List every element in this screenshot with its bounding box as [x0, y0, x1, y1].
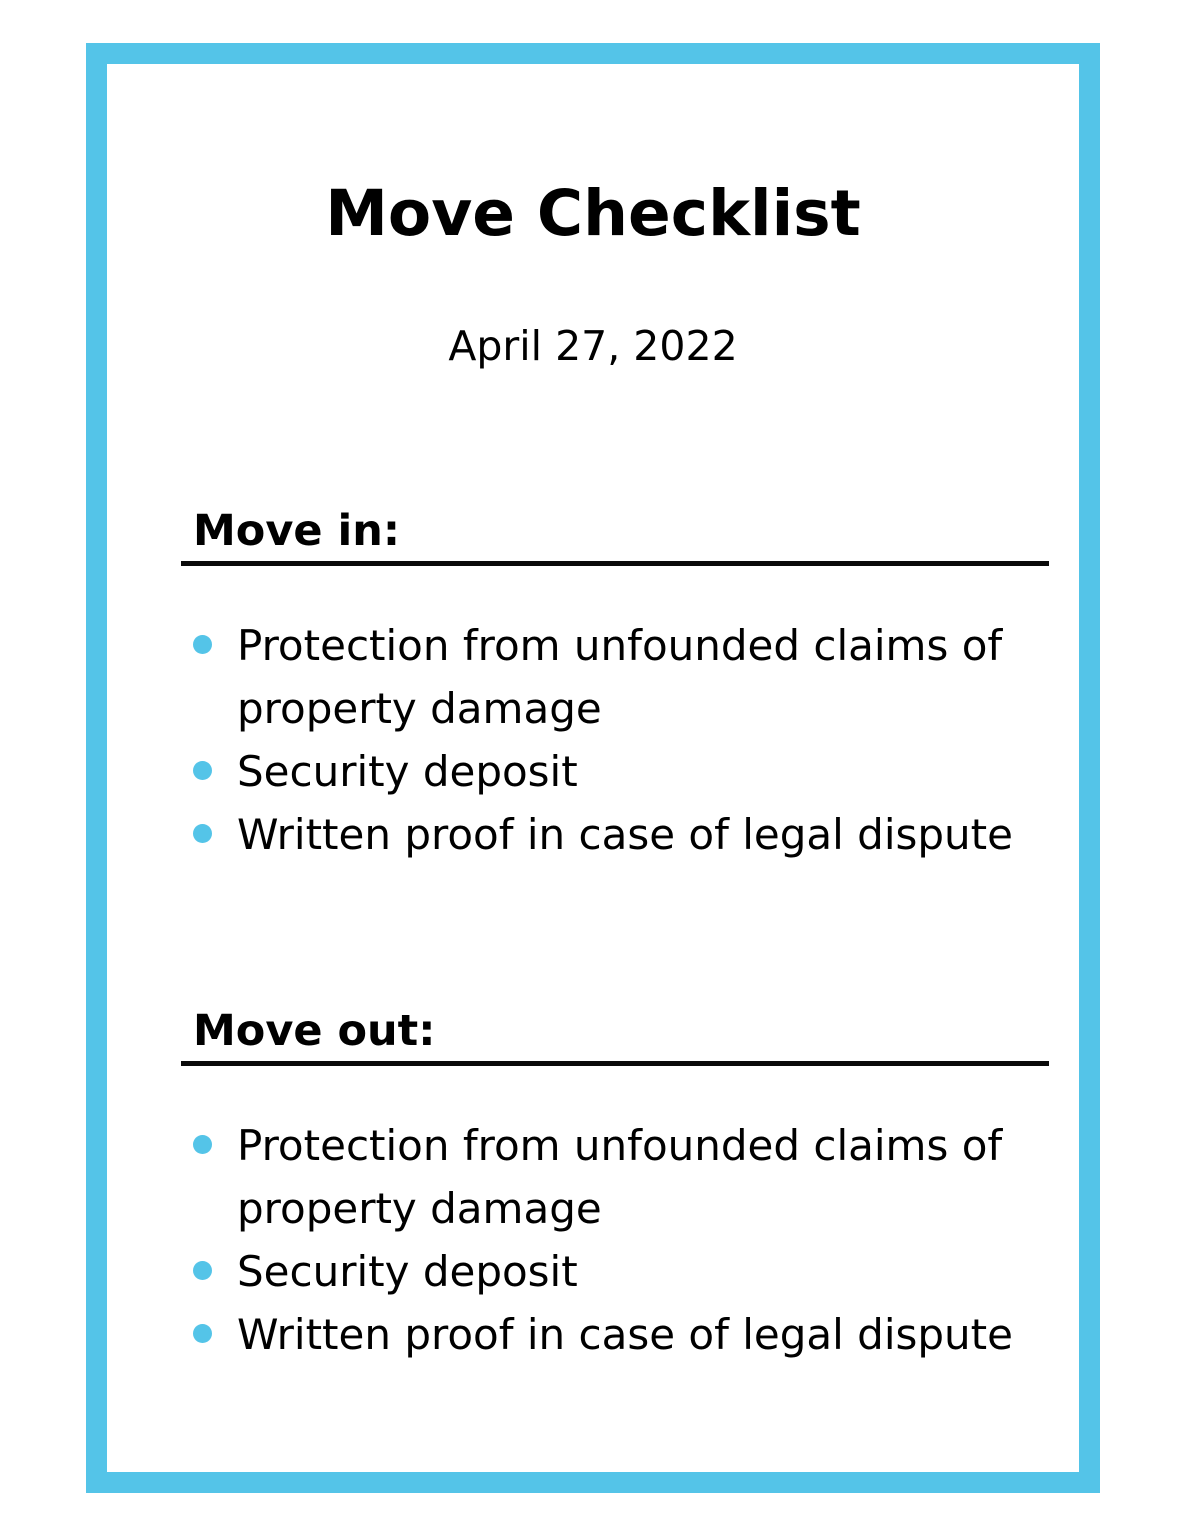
section-divider-move-in [181, 561, 1049, 566]
document-content: Move Checklist April 27, 2022 Move in: P… [107, 64, 1079, 1472]
list-item[interactable]: Security deposit [181, 740, 1049, 803]
bullet-dot-icon [193, 1135, 212, 1154]
list-item[interactable]: Written proof in case of legal dispute [181, 803, 1049, 866]
section-heading-move-in: Move in: [181, 507, 1049, 557]
list-item[interactable]: Written proof in case of legal dispute [181, 1303, 1049, 1366]
list-item[interactable]: Security deposit [181, 1240, 1049, 1303]
list-item-label: Security deposit [237, 1240, 1049, 1303]
decorative-blue-frame: Move Checklist April 27, 2022 Move in: P… [86, 43, 1100, 1493]
bullet-dot-icon [193, 824, 212, 843]
bullet-dot-icon [193, 1261, 212, 1280]
list-item-label: Protection from unfounded claims of prop… [237, 1114, 1049, 1240]
list-item-label: Security deposit [237, 740, 1049, 803]
bullet-dot-icon [193, 635, 212, 654]
page-title: Move Checklist [107, 182, 1079, 245]
section-divider-move-out [181, 1061, 1049, 1066]
list-item-label: Written proof in case of legal dispute [237, 1303, 1049, 1366]
document-date: April 27, 2022 [107, 326, 1079, 367]
list-item[interactable]: Protection from unfounded claims of prop… [181, 614, 1049, 740]
checklist-move-out: Protection from unfounded claims of prop… [181, 1114, 1049, 1366]
checklist-page: Move Checklist April 27, 2022 Move in: P… [0, 0, 1187, 1536]
section-move-out: Move out: Protection from unfounded clai… [181, 1007, 1049, 1366]
list-item-label: Protection from unfounded claims of prop… [237, 614, 1049, 740]
section-move-in: Move in: Protection from unfounded claim… [181, 507, 1049, 866]
bullet-dot-icon [193, 761, 212, 780]
bullet-dot-icon [193, 1324, 212, 1343]
section-heading-move-out: Move out: [181, 1007, 1049, 1057]
checklist-move-in: Protection from unfounded claims of prop… [181, 614, 1049, 866]
list-item[interactable]: Protection from unfounded claims of prop… [181, 1114, 1049, 1240]
list-item-label: Written proof in case of legal dispute [237, 803, 1049, 866]
